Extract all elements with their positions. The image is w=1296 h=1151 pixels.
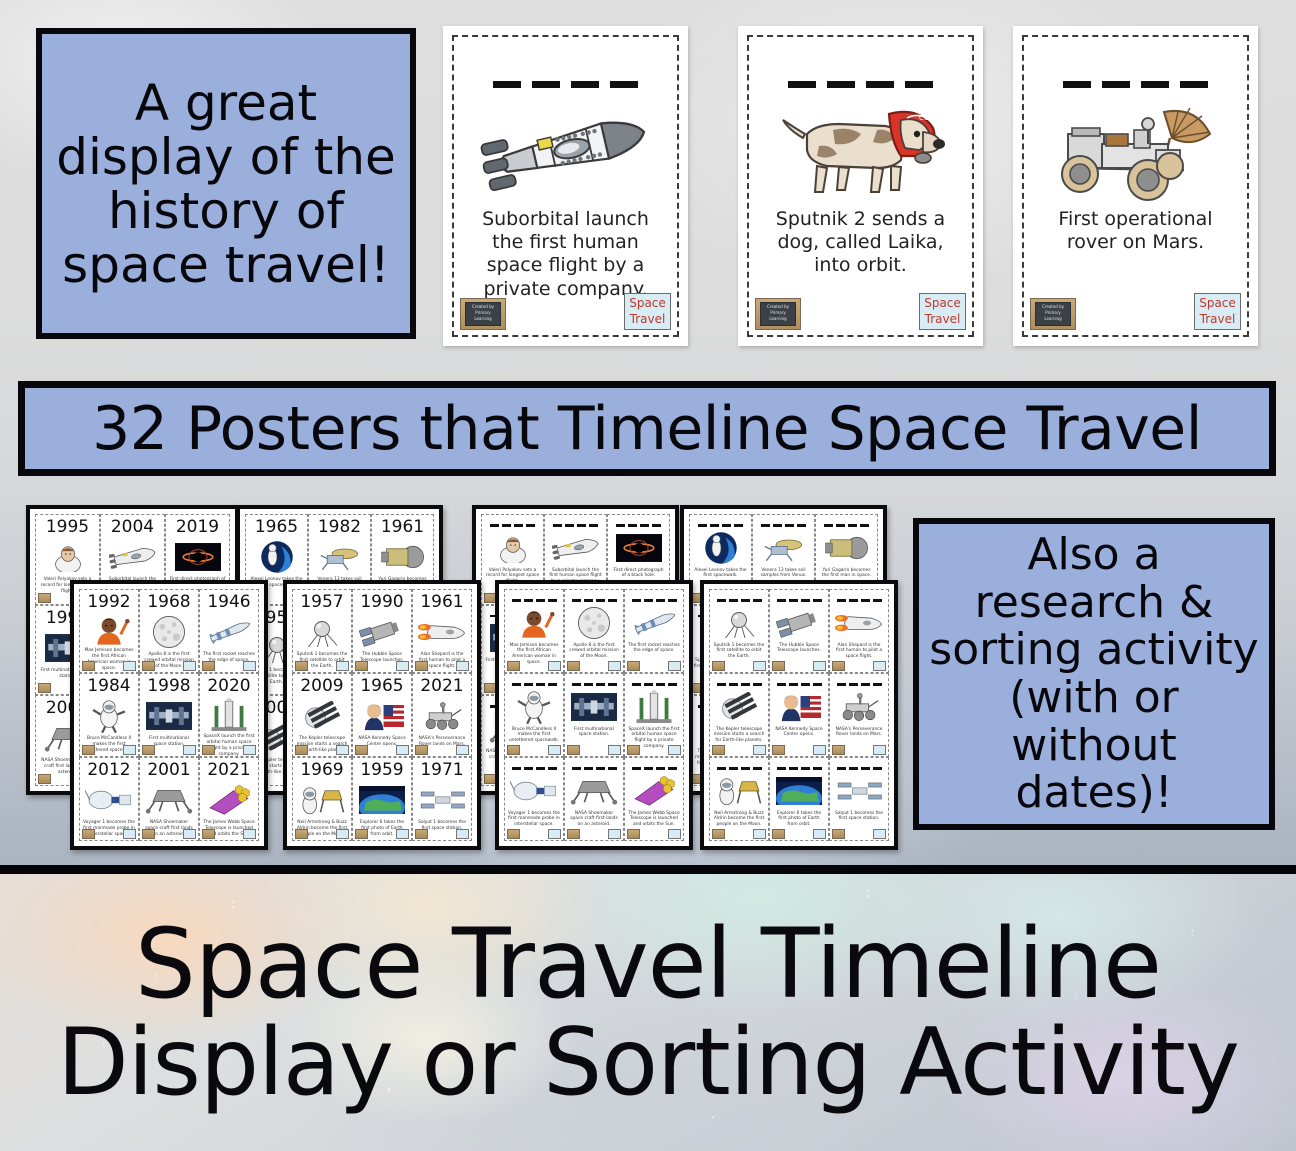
space-travel-badge	[396, 661, 409, 671]
timeline-mini-card[interactable]: The Hubble Space Telescope launches.	[769, 589, 829, 673]
mini-card-blank-date-line	[717, 683, 762, 686]
space-travel-badge	[336, 745, 349, 755]
mini-card-caption: First direct photograph of a black hole.	[608, 566, 669, 580]
mini-card-caption: The first rocket reaches the edge of spa…	[625, 641, 683, 655]
mini-card-badges	[415, 661, 469, 671]
chalkboard-logo-icon	[202, 745, 215, 755]
timeline-mini-card[interactable]: NASA Kennedy Space Center opens.	[769, 673, 829, 757]
timeline-mini-card[interactable]: NASA Shoemaker space craft first lands o…	[564, 757, 624, 841]
chalkboard-logo-icon	[832, 745, 845, 755]
chalkboard-logo-icon	[355, 661, 368, 671]
mini-card-badges	[772, 661, 826, 671]
mini-card-year: 1961	[420, 594, 463, 611]
timeline-mini-card[interactable]: Sputnik 1 becomes the first satellite to…	[709, 589, 769, 673]
space-travel-badge	[668, 829, 681, 839]
timeline-mini-card[interactable]: 1961Alan Shepard is the first human to p…	[412, 589, 472, 673]
space-travel-badge: Space Travel	[919, 293, 966, 330]
space-travel-badge	[123, 829, 136, 839]
mini-card-caption: Yuri Gagarin becomes the first man in sp…	[816, 566, 877, 580]
space-travel-badge	[123, 661, 136, 671]
mini-card-badges	[507, 661, 561, 671]
chalkboard-logo-icon	[415, 745, 428, 755]
launchpad-icon	[200, 698, 258, 732]
timeline-mini-card[interactable]: 1998First multinational space station.	[139, 673, 199, 757]
chalkboard-logo-icon	[712, 745, 725, 755]
mini-card-badges	[355, 661, 409, 671]
timeline-mini-card[interactable]: 2001NASA Shoemaker space craft first lan…	[139, 757, 199, 841]
chalkboard-logo-icon: Created byPrimaryLearning	[755, 298, 801, 330]
space-travel-badge	[183, 661, 196, 671]
chalkboard-logo-icon	[627, 661, 640, 671]
station-icon	[140, 698, 198, 734]
space-travel-badge	[873, 661, 886, 671]
moon-icon	[565, 605, 623, 641]
mini-card-badges	[772, 745, 826, 755]
hubble-icon	[353, 614, 411, 650]
chalkboard-logo-icon	[38, 593, 51, 603]
mini-card-year: 1971	[420, 762, 463, 779]
mini-card-blank-date-line	[777, 683, 822, 686]
spacewalk-earth-icon	[690, 530, 751, 566]
mini-card-caption: Voyager 1 becomes the first manmade prob…	[505, 809, 563, 829]
chalkboard-logo-icon	[507, 829, 520, 839]
mini-card-blank-date-line	[717, 767, 762, 770]
blackhole-icon	[166, 539, 229, 575]
mini-card-year: 2001	[147, 762, 190, 779]
station-icon	[565, 689, 623, 725]
mini-card-year: 2021	[207, 762, 250, 779]
mini-card-caption: Bruce McCandless II makes the first unte…	[505, 725, 563, 745]
mini-card-badges	[415, 745, 469, 755]
mini-card-blank-date-line	[572, 767, 617, 770]
mini-card-blank-date-line	[512, 767, 557, 770]
timeline-mini-card[interactable]: Voyager 1 becomes the first manmade prob…	[504, 757, 564, 841]
mini-card-year: 2009	[300, 678, 343, 695]
mini-card-badges	[295, 829, 349, 839]
v2-rocket-icon	[200, 614, 258, 650]
mini-card-badges	[295, 745, 349, 755]
mini-card-caption: Sputnik 1 becomes the first satellite to…	[710, 641, 768, 661]
space-travel-badge	[243, 661, 256, 671]
poster-badges: Created byPrimaryLearning Space Travel	[460, 293, 671, 330]
timeline-mini-card[interactable]: NASA's Perseverance Rover lands on Mars.	[829, 673, 889, 757]
astronaut-woman-icon	[505, 605, 563, 641]
chalkboard-logo-icon	[355, 829, 368, 839]
space-travel-badge	[243, 829, 256, 839]
blackhole-icon	[608, 530, 669, 566]
kepler-icon	[293, 698, 351, 734]
sample-poster-card[interactable]: First operational rover on Mars. Created…	[1013, 26, 1258, 346]
timeline-mini-card[interactable]: 2021The James Webb Space Telescope is la…	[199, 757, 259, 841]
chalkboard-logo-icon	[38, 683, 51, 693]
perseverance-icon	[830, 689, 888, 725]
space-travel-badge	[123, 745, 136, 755]
space-travel-badge	[813, 661, 826, 671]
timeline-mini-card[interactable]: First multinational space station.	[564, 673, 624, 757]
chalkboard-logo-icon	[627, 829, 640, 839]
mini-card-blank-date-line	[512, 683, 557, 686]
mercury-icon	[413, 614, 471, 650]
timeline-mini-card[interactable]: 2009The Kepler telescope mission starts …	[292, 673, 352, 757]
timeline-mini-card[interactable]: The James Webb Space Telescope is launch…	[624, 757, 684, 841]
sample-poster-card[interactable]: CCCP Sputnik 2 sends a dog, called Laika…	[738, 26, 983, 346]
timeline-mini-card[interactable]: 1971Salyut 1 becomes the first space sta…	[412, 757, 472, 841]
sputnik-icon	[293, 614, 351, 650]
chalkboard-logo-icon: Created byPrimaryLearning	[1030, 298, 1076, 330]
callout-research-sorting: Also a research & sorting activity (with…	[913, 518, 1275, 830]
chalkboard-logo-icon	[415, 829, 428, 839]
mini-card-badges	[142, 745, 196, 755]
mini-card-caption: The Hubble Space Telescope launches.	[770, 641, 828, 655]
chalkboard-logo-icon	[772, 829, 785, 839]
voyager-icon	[80, 782, 138, 818]
mini-card-badges	[712, 745, 766, 755]
mini-card-blank-date-line	[698, 524, 743, 527]
product-title-line-2: Display or Sorting Activity	[57, 1017, 1239, 1108]
chalkboard-logo-icon	[567, 829, 580, 839]
mini-card-blank-date-line	[616, 524, 661, 527]
space-travel-badge	[608, 661, 621, 671]
space-travel-badge	[753, 661, 766, 671]
chalkboard-logo-icon	[82, 661, 95, 671]
mini-card-blank-date-line	[553, 524, 598, 527]
mini-card-year: 2021	[420, 678, 463, 695]
space-travel-badge	[873, 829, 886, 839]
mini-card-badges	[627, 829, 681, 839]
timeline-mini-card[interactable]: 2020SpaceX launch the first orbital huma…	[199, 673, 259, 757]
thumbnail-sheet[interactable]: 1957Sputnik 1 becomes the first satellit…	[283, 580, 481, 850]
banner-32-posters: 32 Posters that Timeline Space Travel	[18, 381, 1276, 476]
timeline-mini-card[interactable]: 1946The first rocket reaches the edge of…	[199, 589, 259, 673]
mini-card-caption: Explorer 6 takes the first photo of Eart…	[770, 809, 828, 829]
space-travel-badge	[813, 829, 826, 839]
space-travel-badge	[813, 745, 826, 755]
chalkboard-logo-icon	[355, 745, 368, 755]
badge-travel-label: Travel	[925, 312, 961, 327]
chalkboard-logo-icon	[832, 661, 845, 671]
mini-card-badges	[82, 661, 136, 671]
mini-card-year: 1959	[360, 762, 403, 779]
thumbnail-sheet[interactable]: 1992Mae Jemison becomes the first Africa…	[70, 580, 268, 850]
space-travel-badge	[456, 745, 469, 755]
mini-card-badges	[772, 829, 826, 839]
mini-card-blank-date-line	[490, 524, 535, 527]
space-travel-badge	[396, 745, 409, 755]
mini-card-year: 1946	[207, 594, 250, 611]
timeline-mini-card[interactable]: 2012Voyager 1 becomes the first manmade …	[79, 757, 139, 841]
timeline-mini-card[interactable]: 1990The Hubble Space Telescope launches.	[352, 589, 412, 673]
badge-space-label: Space	[924, 296, 961, 311]
rover-icon	[1044, 96, 1228, 204]
timeline-mini-card[interactable]: The first rocket reaches the edge of spa…	[624, 589, 684, 673]
space-travel-badge	[183, 829, 196, 839]
blank-date-line	[1063, 81, 1208, 88]
space-travel-badge	[396, 829, 409, 839]
mini-card-year: 1982	[318, 519, 361, 536]
chalkboard-logo-icon	[142, 661, 155, 671]
chalkboard-logo-icon	[772, 745, 785, 755]
mini-card-year: 1995	[46, 519, 89, 536]
mini-card-blank-date-line	[777, 767, 822, 770]
space-travel-badge	[336, 661, 349, 671]
poster-inner-dashed-frame: CCCP Sputnik 2 sends a dog, called Laika…	[747, 35, 974, 337]
moonlanding-icon	[710, 773, 768, 809]
mini-card-caption: The James Webb Space Telescope is launch…	[625, 809, 683, 829]
timeline-mini-card[interactable]: Alan Shepard is the first human to pilot…	[829, 589, 889, 673]
timeline-mini-card[interactable]: Bruce McCandless II makes the first unte…	[504, 673, 564, 757]
timeline-mini-card[interactable]: Neil Armstrong & Buzz Aldrin become the …	[709, 757, 769, 841]
chalkboard-logo-icon: Created byPrimaryLearning	[460, 298, 506, 330]
mini-card-year: 2012	[87, 762, 130, 779]
thumbnail-sheet[interactable]: Sputnik 1 becomes the first satellite to…	[700, 580, 898, 850]
space-travel-badge	[456, 661, 469, 671]
timeline-mini-card[interactable]: 2021NASA's Perseverance Rover lands on M…	[412, 673, 472, 757]
mini-card-blank-date-line	[572, 683, 617, 686]
product-title-line-1: Space Travel Timeline	[135, 917, 1161, 1011]
badge-space-label: Space	[629, 296, 666, 311]
poster-badges: Created byPrimaryLearning Space Travel	[1030, 293, 1241, 330]
space-travel-badge	[753, 745, 766, 755]
mini-card-caption: The Kepler telescope mission starts a se…	[710, 725, 768, 745]
timeline-mini-card[interactable]: 1984Bruce McCandless II makes the first …	[79, 673, 139, 757]
mini-card-badges	[507, 745, 561, 755]
chalkboard-logo-icon	[567, 745, 580, 755]
chalkboard-logo-icon	[202, 661, 215, 671]
mini-card-badges	[627, 745, 681, 755]
timeline-mini-card[interactable]: Mae Jemison becomes the first African Am…	[504, 589, 564, 673]
mini-card-blank-date-line	[824, 524, 869, 527]
moonlanding-icon	[293, 782, 351, 818]
sputnik-icon	[710, 605, 768, 641]
jwst-icon	[200, 782, 258, 818]
mini-card-caption: NASA Kennedy Space Center opens.	[770, 725, 828, 739]
thumbnail-sheet[interactable]: Mae Jemison becomes the first African Am…	[495, 580, 693, 850]
poster-caption: Sputnik 2 sends a dog, called Laika, int…	[749, 208, 972, 278]
space-travel-badge	[456, 829, 469, 839]
poster-inner-dashed-frame: Suborbital launch the first human space …	[452, 35, 679, 337]
mini-card-badges	[202, 829, 256, 839]
space-travel-badge	[548, 745, 561, 755]
mini-card-blank-date-line	[572, 599, 617, 602]
mini-card-badges	[567, 745, 621, 755]
perseverance-icon	[413, 698, 471, 734]
mini-card-badges	[82, 745, 136, 755]
chalkboard-logo-icon	[507, 661, 520, 671]
mini-card-year: 1998	[147, 678, 190, 695]
timeline-mini-card[interactable]: 1959Explorer 6 takes the first photo of …	[352, 757, 412, 841]
space-travel-badge	[183, 745, 196, 755]
rocket-icon	[545, 530, 606, 566]
timeline-mini-card[interactable]: SpaceX launch the first orbital human sp…	[624, 673, 684, 757]
salyut-icon	[830, 773, 888, 809]
space-travel-badge	[608, 745, 621, 755]
poster-caption: Suborbital launch the first human space …	[454, 208, 677, 301]
mini-card-caption: Venera 13 takes soil samples from Venus.	[753, 566, 814, 580]
astronaut-portrait-icon	[482, 530, 543, 566]
poster-inner-dashed-frame: First operational rover on Mars. Created…	[1022, 35, 1249, 337]
spacewalk-icon	[505, 689, 563, 725]
mini-card-blank-date-line	[632, 683, 677, 686]
mini-card-badges	[712, 661, 766, 671]
mini-card-year: 2020	[207, 678, 250, 695]
mini-card-badges	[142, 829, 196, 839]
space-travel-badge	[548, 829, 561, 839]
kennedy-icon	[770, 689, 828, 725]
venera-icon	[309, 539, 370, 575]
mini-card-badges	[832, 745, 886, 755]
launchpad-icon	[625, 689, 683, 725]
space-travel-badge	[668, 745, 681, 755]
mini-card-year: 1984	[87, 678, 130, 695]
mini-card-caption: Apollo 8 is the first crewed orbital mis…	[565, 641, 623, 661]
poster-badges: Created byPrimaryLearning Space Travel	[755, 293, 966, 330]
chalkboard-logo-icon	[567, 661, 580, 671]
timeline-mini-card[interactable]: Apollo 8 is the first crewed orbital mis…	[564, 589, 624, 673]
mini-card-caption: Salyut 1 becomes the first space station…	[830, 809, 888, 823]
sample-poster-card[interactable]: Suborbital launch the first human space …	[443, 26, 688, 346]
jwst-icon	[625, 773, 683, 809]
spacewalk-icon	[80, 698, 138, 734]
venera-icon	[753, 530, 814, 566]
mini-card-caption: NASA's Perseverance Rover lands on Mars.	[830, 725, 888, 739]
mini-card-badges	[202, 661, 256, 671]
mini-card-badges	[295, 661, 349, 671]
mini-card-blank-date-line	[632, 767, 677, 770]
mini-card-caption: Alan Shepard is the first human to pilot…	[830, 641, 888, 661]
mini-card-blank-date-line	[837, 683, 882, 686]
space-travel-badge	[548, 661, 561, 671]
space-travel-badge	[873, 745, 886, 755]
mini-card-blank-date-line	[512, 599, 557, 602]
bottom-title-strip: Space Travel Timeline Display or Sorting…	[0, 865, 1296, 1151]
mini-card-badges	[142, 661, 196, 671]
svg-text:CCCP: CCCP	[919, 114, 938, 122]
mini-card-badges	[82, 829, 136, 839]
mini-card-blank-date-line	[777, 599, 822, 602]
mini-card-blank-date-line	[761, 524, 806, 527]
salyut-icon	[413, 782, 471, 818]
mini-card-badges	[355, 829, 409, 839]
mini-card-caption: Neil Armstrong & Buzz Aldrin become the …	[710, 809, 768, 829]
chalkboard-logo-icon	[295, 745, 308, 755]
vostok-icon	[372, 539, 433, 575]
space-travel-badge	[243, 745, 256, 755]
mini-card-year: 1965	[360, 678, 403, 695]
chalkboard-logo-icon	[142, 829, 155, 839]
mini-card-caption: Alexei Leonov takes the first spacewalk.	[690, 566, 751, 580]
moon-icon	[140, 614, 198, 650]
timeline-mini-card[interactable]: 1969Neil Armstrong & Buzz Aldrin become …	[292, 757, 352, 841]
mercury-icon	[830, 605, 888, 641]
blank-date-line	[788, 81, 933, 88]
earth-photo-icon	[353, 782, 411, 818]
lander-icon	[565, 773, 623, 809]
badge-travel-label: Travel	[1200, 312, 1236, 327]
mini-card-caption: NASA Shoemaker space craft first lands o…	[565, 809, 623, 829]
astronaut-portrait-icon	[36, 539, 99, 575]
chalkboard-logo-icon	[295, 661, 308, 671]
mini-card-badges	[567, 829, 621, 839]
kennedy-icon	[353, 698, 411, 734]
space-travel-badge: Space Travel	[1194, 293, 1241, 330]
earth-photo-icon	[770, 773, 828, 809]
chalkboard-logo-icon	[142, 745, 155, 755]
timeline-mini-card[interactable]: Salyut 1 becomes the first space station…	[829, 757, 889, 841]
mini-card-year: 1990	[360, 594, 403, 611]
timeline-mini-card[interactable]: 1968Apollo 8 is the first crewed orbital…	[139, 589, 199, 673]
lander-icon	[140, 782, 198, 818]
space-travel-badge	[336, 829, 349, 839]
timeline-mini-card[interactable]: Explorer 6 takes the first photo of Eart…	[769, 757, 829, 841]
timeline-mini-card[interactable]: 1992Mae Jemison becomes the first Africa…	[79, 589, 139, 673]
space-travel-badge	[753, 829, 766, 839]
dog-icon: CCCP	[773, 96, 949, 204]
mini-card-year: 1969	[300, 762, 343, 779]
mini-card-year: 2019	[176, 519, 219, 536]
chalkboard-logo-icon	[712, 661, 725, 671]
badge-travel-label: Travel	[630, 312, 666, 327]
callout-great-display: A great display of the history of space …	[36, 28, 416, 339]
voyager-icon	[505, 773, 563, 809]
mini-card-blank-date-line	[717, 599, 762, 602]
mini-card-caption: First multinational space station.	[565, 725, 623, 739]
chalkboard-logo-icon	[82, 829, 95, 839]
mini-card-blank-date-line	[837, 767, 882, 770]
rocket-icon	[101, 539, 164, 575]
chalkboard-logo-icon	[772, 661, 785, 671]
mini-card-badges	[832, 829, 886, 839]
timeline-mini-card[interactable]: 1957Sputnik 1 becomes the first satellit…	[292, 589, 352, 673]
chalkboard-logo-icon	[82, 745, 95, 755]
space-travel-badge	[608, 829, 621, 839]
mini-card-badges	[832, 661, 886, 671]
chalkboard-logo-icon	[507, 745, 520, 755]
product-cover-page: A great display of the history of space …	[0, 0, 1296, 1151]
mini-card-blank-date-line	[632, 599, 677, 602]
space-travel-badge	[668, 661, 681, 671]
timeline-mini-card[interactable]: 1965NASA Kennedy Space Center opens.	[352, 673, 412, 757]
chalkboard-logo-icon	[38, 774, 51, 784]
badge-space-label: Space	[1199, 296, 1236, 311]
mini-card-badges	[507, 829, 561, 839]
mini-card-year: 1968	[147, 594, 190, 611]
chalkboard-logo-icon	[627, 745, 640, 755]
blank-date-line	[493, 81, 638, 88]
chalkboard-logo-icon	[832, 829, 845, 839]
v2-rocket-icon	[625, 605, 683, 641]
chalkboard-logo-icon	[202, 829, 215, 839]
mini-card-year: 1965	[255, 519, 298, 536]
hubble-icon	[770, 605, 828, 641]
mini-card-year: 1961	[381, 519, 424, 536]
rocket-icon	[478, 96, 654, 204]
mini-card-badges	[567, 661, 621, 671]
mini-card-badges	[202, 745, 256, 755]
mini-card-badges	[355, 745, 409, 755]
spacewalk-earth-icon	[246, 539, 307, 575]
mini-card-year: 1992	[87, 594, 130, 611]
timeline-mini-card[interactable]: The Kepler telescope mission starts a se…	[709, 673, 769, 757]
poster-caption: First operational rover on Mars.	[1024, 208, 1247, 254]
space-travel-badge: Space Travel	[624, 293, 671, 330]
mini-card-year: 2004	[111, 519, 154, 536]
kepler-icon	[710, 689, 768, 725]
mini-card-badges	[627, 661, 681, 671]
chalkboard-logo-icon	[712, 829, 725, 839]
astronaut-woman-icon	[80, 614, 138, 646]
chalkboard-logo-icon	[415, 661, 428, 671]
mini-card-year: 1957	[300, 594, 343, 611]
